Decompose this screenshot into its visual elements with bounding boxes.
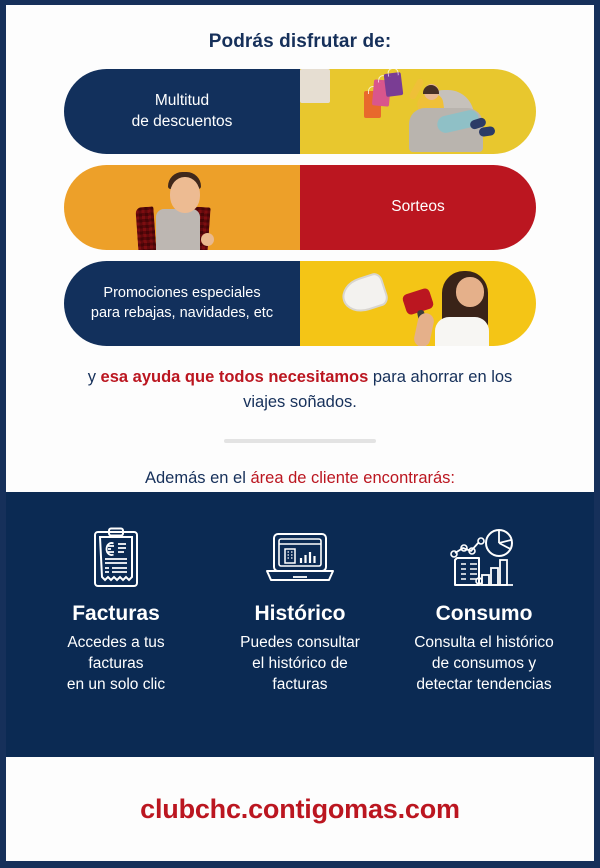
woman-with-megaphone-image [300, 261, 536, 346]
banner-label-panel: Promociones especiales para rebajas, nav… [64, 261, 300, 346]
banner-label-line2: de descuentos [132, 113, 233, 130]
banner-label-line1: Promociones especiales [103, 285, 260, 301]
feature-description: Puedes consultar el histórico de factura… [240, 633, 360, 696]
banner-label-panel: Sorteos [300, 165, 536, 250]
feature-desc-line1: Accedes a tus [67, 634, 164, 651]
feature-historico[interactable]: Histórico Puedes consultar el histórico … [208, 522, 392, 757]
feature-desc-line3: detectar tendencias [416, 676, 551, 693]
shopping-bag-icon [384, 72, 404, 97]
banner-label-panel: Multitud de descuentos [64, 69, 300, 154]
page-title: Podrás disfrutar de: [6, 5, 594, 53]
subheading-plain: Además en el [145, 469, 250, 487]
banner-label-line1: Multitud [155, 92, 209, 109]
banner-image-panel [64, 165, 300, 250]
feature-title: Facturas [72, 602, 160, 626]
invoice-receipt-euro-icon [90, 522, 142, 596]
woman-arm [412, 312, 435, 346]
man-head [170, 177, 200, 213]
feature-desc-line2: el histórico de [252, 655, 348, 672]
banner-image-panel [300, 69, 536, 154]
section-divider [224, 439, 376, 443]
banner-label-text: Sorteos [391, 197, 444, 218]
feature-title: Consumo [436, 602, 533, 626]
woman-face [456, 277, 484, 307]
infographic-page: Podrás disfrutar de: Multitud de descuen… [6, 5, 594, 861]
analytics-pie-bar-line-icon [449, 522, 519, 596]
feature-consumo[interactable]: Consumo Consulta el histórico de consumo… [392, 522, 576, 757]
benefit-banner-list: Multitud de descuentos [6, 69, 594, 346]
megaphone-cone [338, 271, 390, 317]
woman-shopping-bags-armchair-image [300, 69, 536, 154]
benefit-banner-promotions[interactable]: Promociones especiales para rebajas, nav… [64, 261, 536, 346]
feature-title: Histórico [254, 602, 345, 626]
feature-description: Accedes a tus facturas en un solo clic [67, 633, 165, 696]
woman-torso [435, 317, 489, 346]
banner-label-line1: Sorteos [391, 198, 444, 215]
shopping-bag-icon [300, 69, 330, 103]
benefit-banner-discounts[interactable]: Multitud de descuentos [64, 69, 536, 154]
man-tshirt [156, 209, 200, 250]
subheading-highlight: área de cliente encontrarás: [250, 469, 455, 487]
client-area-features: Facturas Accedes a tus facturas en un so… [6, 492, 594, 757]
banner-label-text: Multitud de descuentos [132, 91, 233, 133]
banner-image-panel [300, 261, 536, 346]
person-shoe [479, 126, 496, 137]
feature-desc-line1: Consulta el histórico [414, 634, 554, 651]
feature-desc-line3: en un solo clic [67, 676, 165, 693]
feature-desc-line2: facturas [88, 655, 143, 672]
banner-label-line2: para rebajas, navidades, etc [91, 305, 273, 321]
feature-description: Consulta el histórico de consumos y dete… [414, 633, 554, 696]
client-area-subheading: Además en el área de cliente encontrarás… [6, 469, 594, 488]
paragraph-before: y [88, 368, 101, 386]
man-thumb [201, 233, 214, 246]
feature-desc-line2: de consumos y [432, 655, 536, 672]
footer: clubchc.contigomas.com [6, 757, 594, 861]
feature-desc-line3: facturas [272, 676, 327, 693]
paragraph-highlight: esa ayuda que todos necesitamos [101, 368, 369, 386]
feature-facturas[interactable]: Facturas Accedes a tus facturas en un so… [24, 522, 208, 757]
laptop-chart-icon [264, 522, 336, 596]
smiling-man-thumbs-up-image [64, 165, 300, 250]
feature-desc-line1: Puedes consultar [240, 634, 360, 651]
man-shirt-left [136, 206, 157, 250]
benefits-paragraph: y esa ayuda que todos necesitamos para a… [65, 365, 535, 415]
top-white-section: Podrás disfrutar de: Multitud de descuen… [6, 5, 594, 492]
banner-label-text: Promociones especiales para rebajas, nav… [91, 284, 273, 323]
benefit-banner-raffles[interactable]: Sorteos [64, 165, 536, 250]
website-url-link[interactable]: clubchc.contigomas.com [140, 794, 460, 825]
